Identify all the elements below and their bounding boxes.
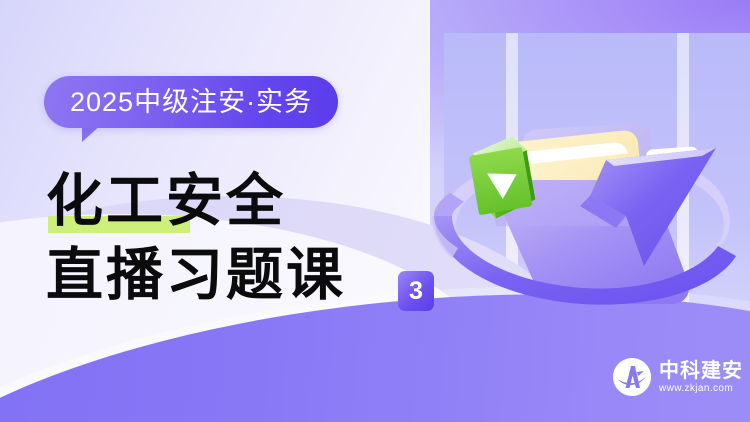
brand-logo-text: 中科建安 www.zkjan.com [659, 361, 743, 394]
folder-illustration [430, 30, 750, 330]
brand-website: www.zkjan.com [659, 383, 743, 394]
brand-logo: 中科建安 www.zkjan.com [613, 358, 743, 396]
title-line-2: 直播习题课 [46, 238, 346, 312]
course-subtitle-badge: 2025中级注安·实务 [44, 76, 338, 128]
brand-name: 中科建安 [659, 361, 743, 382]
circle-person-swoosh-icon [613, 358, 651, 396]
episode-number-badge: 3 [398, 271, 434, 311]
course-banner: 2025中级注安·实务 化工安全 直播习题课 3 中科建安 www.zkjan.… [0, 0, 750, 422]
page-title: 化工安全 直播习题课 [46, 164, 346, 312]
title-line-1: 化工安全 [46, 167, 286, 234]
